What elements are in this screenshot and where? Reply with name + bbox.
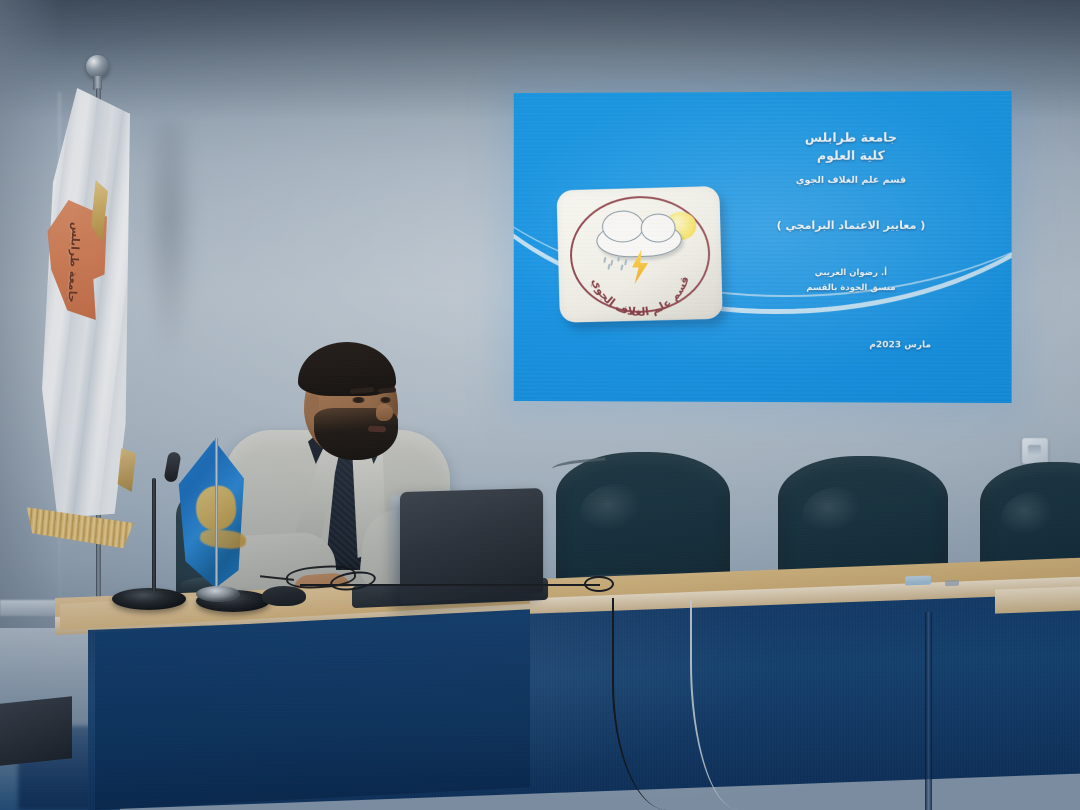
presenter-eye-right [380, 397, 391, 403]
presenter-mouth [368, 426, 386, 433]
microphone-base-left [112, 588, 186, 610]
chair-highlight [580, 484, 657, 542]
microphone-neck-left [152, 478, 156, 592]
floor-object-box [0, 696, 72, 766]
cable-coil [584, 576, 614, 592]
flag-emblem-label: جامعة طرابلس [48, 215, 101, 309]
front-desk-panel [95, 609, 530, 810]
chair-highlight [1001, 492, 1067, 546]
flagpole-finial [86, 55, 109, 78]
university-flag: جامعة طرابلس [20, 88, 130, 518]
desk-right-edge [995, 586, 1080, 613]
desk-flag-base [196, 586, 240, 602]
conference-room-scene: قسم علم الغلاف الجوي جامعة طرابلس كلية ا… [0, 0, 1080, 810]
wall-switch-plate-icon[interactable] [1022, 438, 1048, 464]
presenter-ear [306, 394, 319, 415]
slide-line-subject: ( معايير الاعتماد البرامجي ) [711, 219, 991, 232]
desk-flag-pole [215, 438, 218, 590]
slide-line-department: قسم علم الغلاف الجوي [711, 173, 991, 188]
slide-text-block: جامعة طرابلس كلية العلوم قسم علم الغلاف … [711, 128, 991, 294]
projected-presentation-slide: قسم علم الغلاف الجوي جامعة طرابلس كلية ا… [514, 91, 1012, 403]
department-logo: قسم علم الغلاف الجوي [556, 186, 723, 323]
slide-line-presenter: أ. رضوان العريبي [711, 267, 991, 280]
slide-line-role: منسق الجودة بالقسم [711, 282, 991, 295]
desk-small-object [945, 580, 959, 586]
slide-line-faculty: كلية العلوم [711, 146, 991, 164]
desk-panel-seam [925, 612, 932, 810]
rain-icon [602, 255, 635, 272]
slide-line-university: جامعة طرابلس [711, 128, 991, 147]
chair-highlight [802, 487, 877, 544]
presenter-nose [376, 404, 393, 421]
slide-line-date: مارس 2023م [869, 340, 931, 350]
presenter-eye-left [352, 397, 365, 403]
desk-paper-slip [905, 576, 931, 586]
